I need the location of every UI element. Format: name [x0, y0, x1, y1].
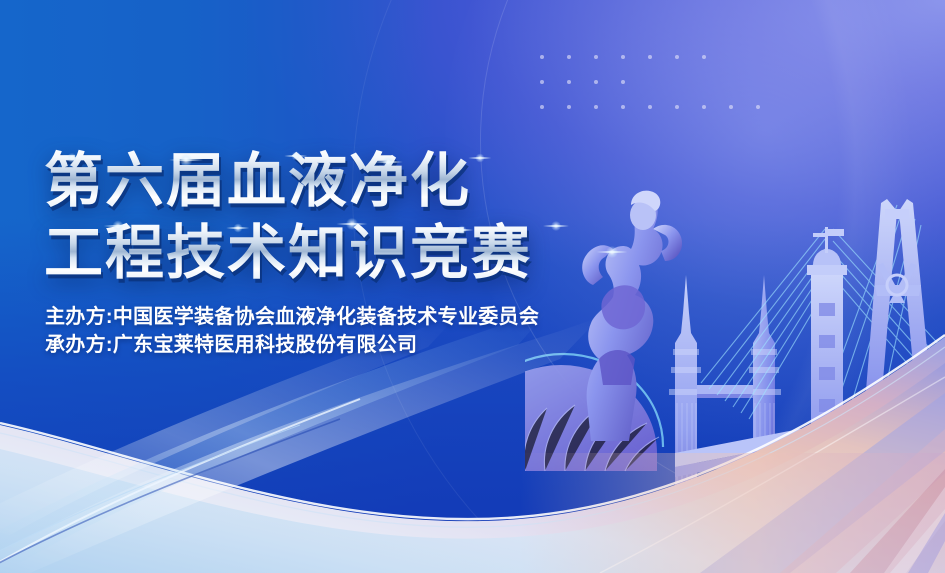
event-banner: 第六届血液净化 工程技术知识竞赛 主办方:中国医学装备协会血液净化装备技术专业委… — [0, 0, 945, 573]
grid-dot-icon — [540, 80, 544, 84]
grid-dot-icon — [648, 105, 652, 109]
organizer-line: 主办方:中国医学装备协会血液净化装备技术专业委员会 — [45, 303, 539, 331]
grid-dot-icon — [594, 55, 598, 59]
grid-dot-icon — [621, 55, 625, 59]
grid-dot-icon — [567, 55, 571, 59]
grid-dot-icon — [621, 80, 625, 84]
banner-title: 第六届血液净化 工程技术知识竞赛 — [44, 146, 532, 288]
grid-dot-icon — [594, 105, 598, 109]
grid-dot-icon — [675, 55, 679, 59]
grid-dot-icon — [594, 80, 598, 84]
grid-dot-icon — [540, 105, 544, 109]
dot-grid-row — [540, 55, 783, 80]
co-organizer-line: 承办方:广东宝莱特医用科技股份有限公司 — [45, 331, 539, 359]
dot-grid-pattern — [540, 55, 783, 130]
grid-dot-icon — [540, 55, 544, 59]
grid-dot-icon — [729, 105, 733, 109]
grid-dot-icon — [621, 105, 625, 109]
grid-dot-icon — [648, 55, 652, 59]
grid-dot-icon — [702, 105, 706, 109]
grid-dot-icon — [702, 55, 706, 59]
grid-dot-icon — [675, 105, 679, 109]
dot-grid-row — [540, 105, 783, 130]
grid-dot-icon — [756, 105, 760, 109]
title-line-2: 工程技术知识竞赛 — [44, 218, 532, 288]
grid-dot-icon — [567, 105, 571, 109]
dot-grid-row — [540, 80, 783, 105]
banner-subtitle: 主办方:中国医学装备协会血液净化装备技术专业委员会 承办方:广东宝莱特医用科技股… — [45, 303, 539, 359]
title-line-1: 第六届血液净化 — [44, 146, 532, 216]
grid-dot-icon — [567, 80, 571, 84]
